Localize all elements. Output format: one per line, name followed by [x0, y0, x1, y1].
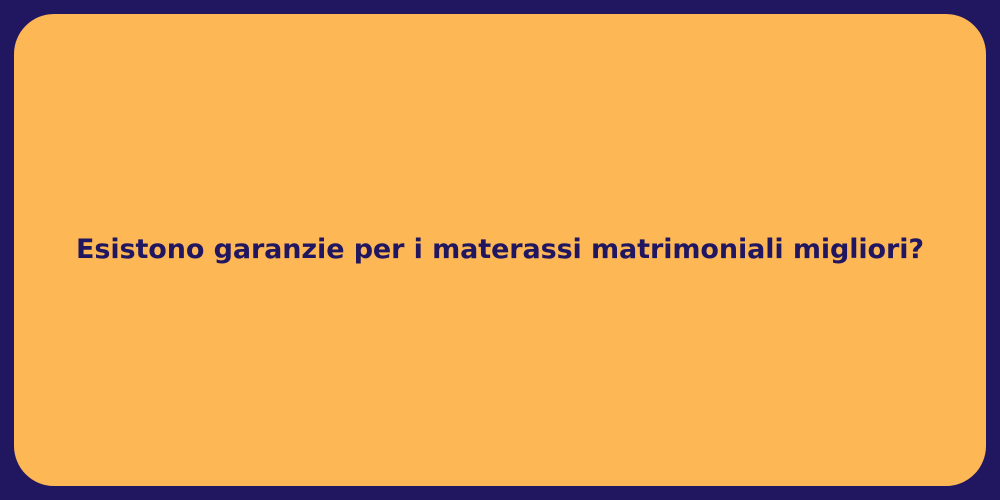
question-headline: Esistono garanzie per i materassi matrim… [76, 233, 924, 268]
question-card-panel: Esistono garanzie per i materassi matrim… [14, 14, 986, 486]
question-card-frame: Esistono garanzie per i materassi matrim… [0, 0, 1000, 500]
